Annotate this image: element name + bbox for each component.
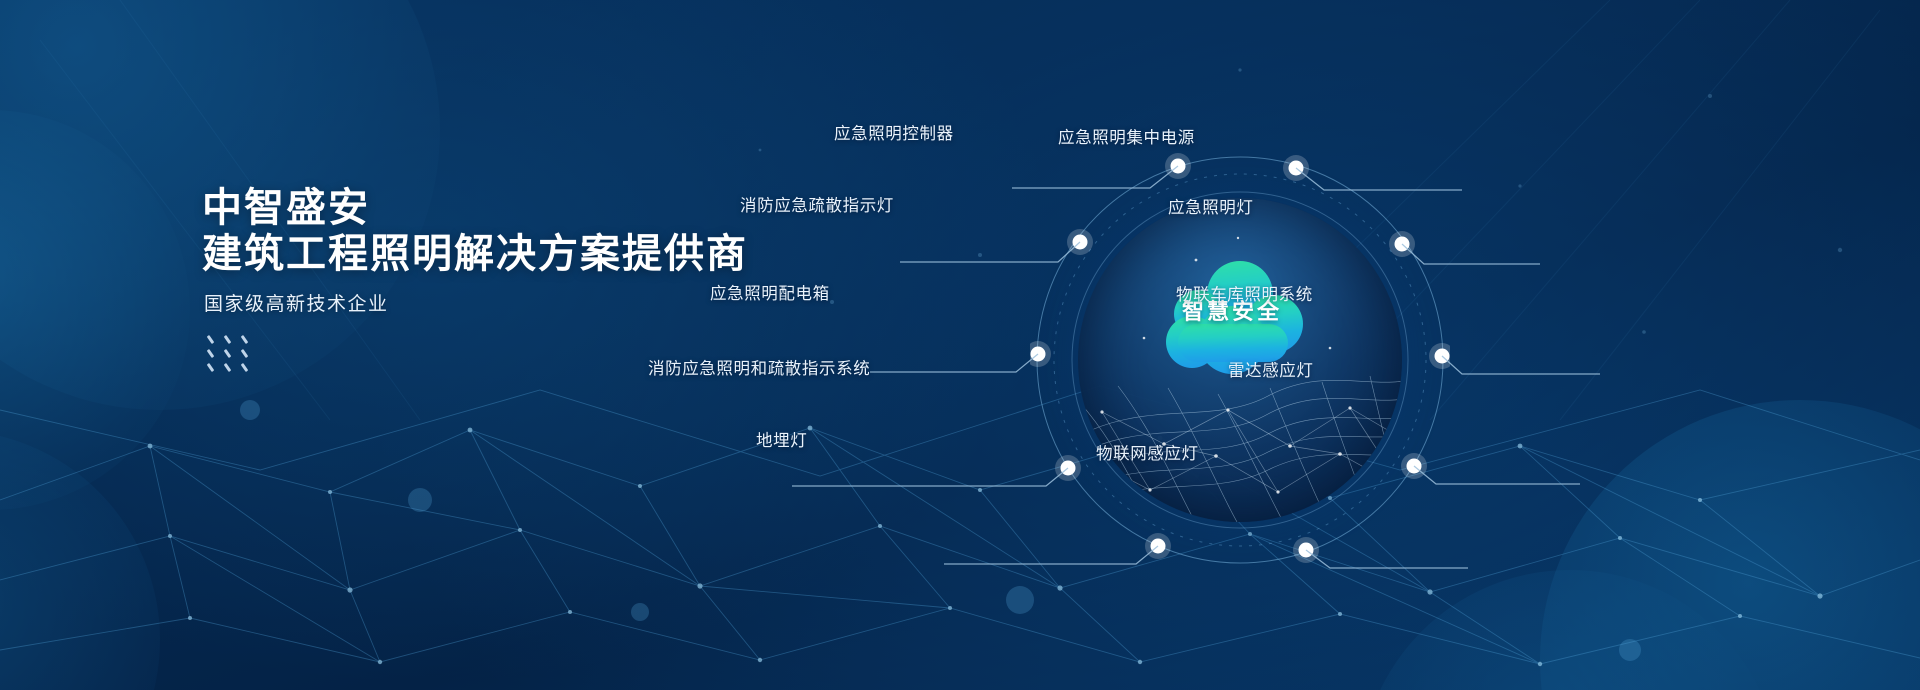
decorative-tick-grid (206, 338, 250, 382)
label-iot-sensor-light: 物联网感应灯 (1096, 440, 1199, 464)
leader-lines (0, 0, 1920, 690)
label-buried-ground-light: 地埋灯 (756, 427, 807, 451)
headline-line-2: 建筑工程照明解决方案提供商 (202, 231, 748, 277)
headline-block: 中智盛安 建筑工程照明解决方案提供商 (202, 185, 748, 277)
decorative-circle-bottom-right (1540, 400, 1920, 690)
label-fire-emergency-evacuation-sign-light: 消防应急疏散指示灯 (740, 192, 894, 216)
decorative-circle-mid-left (0, 110, 190, 510)
label-emergency-lighting-lamp: 应急照明灯 (1168, 194, 1254, 218)
solution-diagram: 智慧安全 (0, 0, 1920, 690)
hero-banner: 中智盛安 建筑工程照明解决方案提供商 国家级高新技术企业 (0, 0, 1920, 690)
subtitle: 国家级高新技术企业 (204, 289, 389, 316)
background-decoration (0, 0, 1920, 690)
headline-line-1: 中智盛安 (202, 185, 748, 231)
label-emergency-lighting-distribution-box: 应急照明配电箱 (710, 280, 830, 304)
label-emergency-lighting-controller: 应急照明控制器 (834, 120, 954, 144)
label-fire-emergency-lighting-and-evacuation-system: 消防应急照明和疏散指示系统 (648, 355, 870, 379)
decorative-circle-lower-left (0, 430, 160, 690)
label-emergency-lighting-central-power: 应急照明集中电源 (1058, 124, 1195, 148)
label-iot-garage-lighting-system: 物联车库照明系统 (1176, 281, 1313, 305)
decorative-circle-bottom-center-right (1360, 570, 1780, 690)
label-radar-sensor-light: 雷达感应灯 (1228, 357, 1314, 381)
network-mesh-background (0, 350, 1920, 690)
